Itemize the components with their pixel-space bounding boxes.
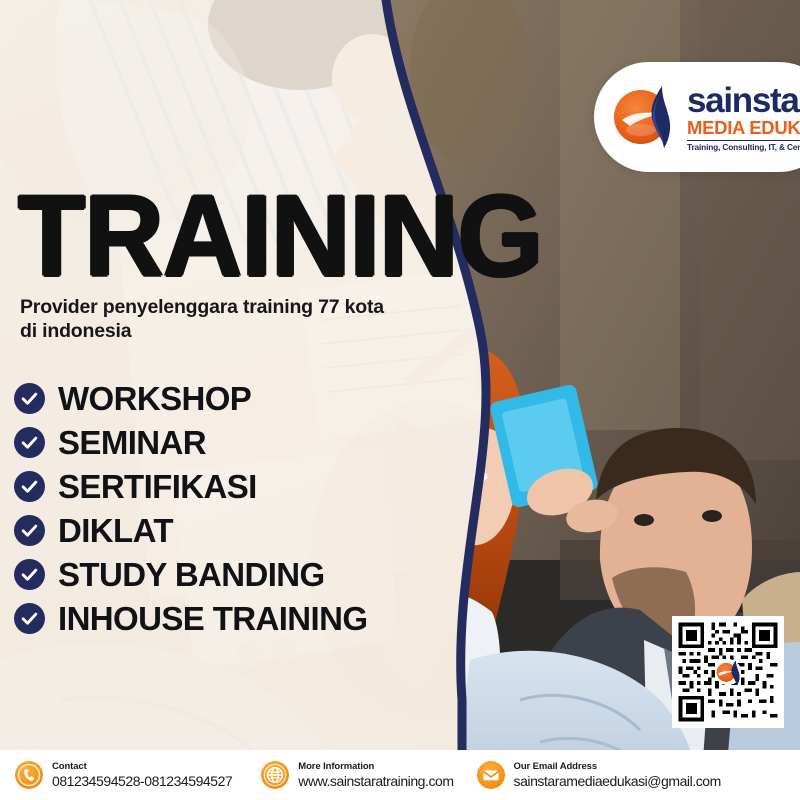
brand-tagline-rule: Training, Consulting, IT, & Certificatio… <box>687 140 800 151</box>
list-item-label: SEMINAR <box>58 426 206 459</box>
brand-logo-badge: sainstara MEDIA EDUKASI Training, Consul… <box>594 62 800 172</box>
footer-contact-value: 081234594528-081234594527 <box>52 774 232 789</box>
envelope-icon <box>476 760 506 790</box>
check-circle-icon <box>14 515 45 546</box>
sainstara-flame-mark-icon <box>610 80 680 154</box>
footer-contact-label: Contact <box>52 762 232 772</box>
footer-website-block[interactable]: More Information www.sainstaratraining.c… <box>260 760 453 790</box>
list-item: SEMINAR <box>14 426 484 459</box>
list-item: DIKLAT <box>14 514 484 547</box>
page-title: TRAINING <box>18 186 542 288</box>
services-list: WORKSHOP SEMINAR SERTIFIKASI DIKLAT STUD… <box>14 382 484 635</box>
list-item: SERTIFIKASI <box>14 470 484 503</box>
list-item-label: SERTIFIKASI <box>58 470 257 503</box>
check-circle-icon <box>14 427 45 458</box>
list-item-label: WORKSHOP <box>58 382 251 415</box>
globe-icon <box>260 760 290 790</box>
check-circle-icon <box>14 559 45 590</box>
brand-tagline: Training, Consulting, IT, & Certificatio… <box>687 143 800 151</box>
footer-email-text: Our Email Address sainstaramediaedukasi@… <box>514 762 721 789</box>
list-item: WORKSHOP <box>14 382 484 415</box>
phone-icon <box>14 760 44 790</box>
footer-contact-bar: Contact 081234594528-081234594527 More I… <box>0 750 800 800</box>
footer-website-label: More Information <box>298 762 453 772</box>
footer-email-value: sainstaramediaedukasi@gmail.com <box>514 774 721 789</box>
check-circle-icon <box>14 383 45 414</box>
qr-code-matrix <box>675 619 781 725</box>
check-circle-icon <box>14 603 45 634</box>
qr-code-icon[interactable] <box>672 616 784 728</box>
list-item: INHOUSE TRAINING <box>14 602 484 635</box>
footer-contact-block[interactable]: Contact 081234594528-081234594527 <box>14 760 232 790</box>
footer-website-value: www.sainstaratraining.com <box>298 774 453 789</box>
list-item: STUDY BANDING <box>14 558 484 591</box>
brand-name: sainstara <box>687 83 800 118</box>
brand-subtitle: MEDIA EDUKASI <box>687 119 800 138</box>
list-item-label: STUDY BANDING <box>58 558 325 591</box>
list-item-label: INHOUSE TRAINING <box>58 602 367 635</box>
footer-website-text: More Information www.sainstaratraining.c… <box>298 762 453 789</box>
footer-contact-text: Contact 081234594528-081234594527 <box>52 762 232 789</box>
footer-email-block[interactable]: Our Email Address sainstaramediaedukasi@… <box>476 760 721 790</box>
brand-logo-text: sainstara MEDIA EDUKASI Training, Consul… <box>687 83 800 151</box>
promo-poster: TRAINING Provider penyelenggara training… <box>0 0 800 800</box>
footer-email-label: Our Email Address <box>514 762 721 772</box>
list-item-label: DIKLAT <box>58 514 173 547</box>
check-circle-icon <box>14 471 45 502</box>
page-subtitle: Provider penyelenggara training 77 kota … <box>20 296 405 344</box>
